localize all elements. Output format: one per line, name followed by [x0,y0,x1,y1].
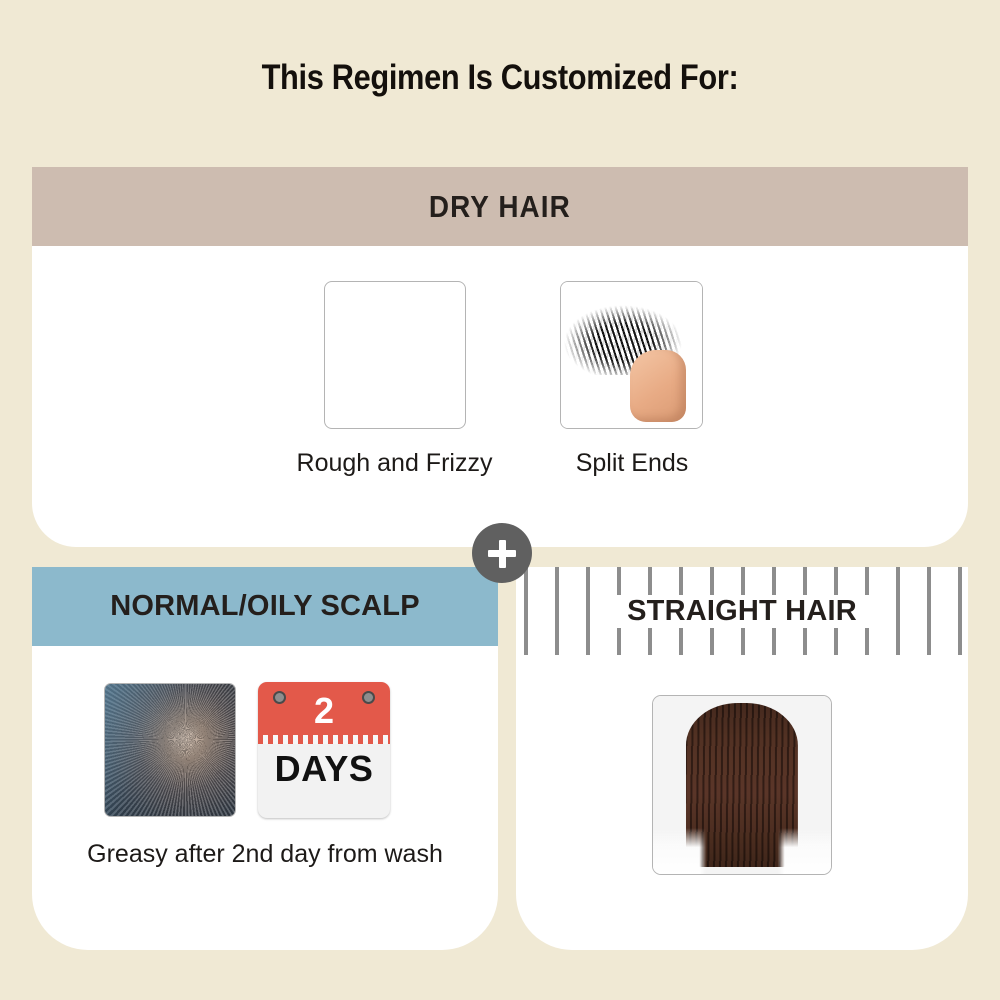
band-normal-oily-scalp: NORMAL/OILY SCALP [32,567,498,646]
split-ends-hair-photo [560,281,703,429]
caption-greasy-after-wash: Greasy after 2nd day from wash [32,840,498,869]
oily-scalp-photo [104,683,236,817]
caption-rough-frizzy: Rough and Frizzy [297,449,493,478]
caption-split-ends: Split Ends [576,449,689,478]
calendar-icon: 2 DAYS [258,682,390,818]
calendar-perforation [258,735,390,744]
rough-frizzy-hair-photo [324,281,466,429]
band-dry-hair: DRY HAIR [32,167,968,246]
dry-hair-item-split-ends: Split Ends [560,281,703,478]
dry-hair-item-rough-frizzy: Rough and Frizzy [297,281,493,478]
straight-hair-photo [652,695,832,875]
calendar-unit-label: DAYS [258,748,390,790]
band-label-straight-hair: STRAIGHT HAIR [615,595,869,628]
scalp-items: 2 DAYS [104,682,498,818]
card-dry-hair: DRY HAIR Rough and Frizzy Split Ends [32,167,968,547]
straight-hair-items [516,695,968,875]
plus-icon [472,523,532,583]
card-straight-hair: STRAIGHT HAIR [516,567,968,950]
dry-hair-items: Rough and Frizzy Split Ends [32,281,968,478]
band-label-dry-hair: DRY HAIR [429,189,571,225]
band-label-normal-oily-scalp: NORMAL/OILY SCALP [110,590,420,623]
card-normal-oily-scalp: NORMAL/OILY SCALP 2 DAYS Greasy after 2n… [32,567,498,950]
band-straight-hair: STRAIGHT HAIR [516,567,968,655]
calendar-number: 2 [258,690,390,732]
page-title: This Regimen Is Customized For: [60,58,940,98]
